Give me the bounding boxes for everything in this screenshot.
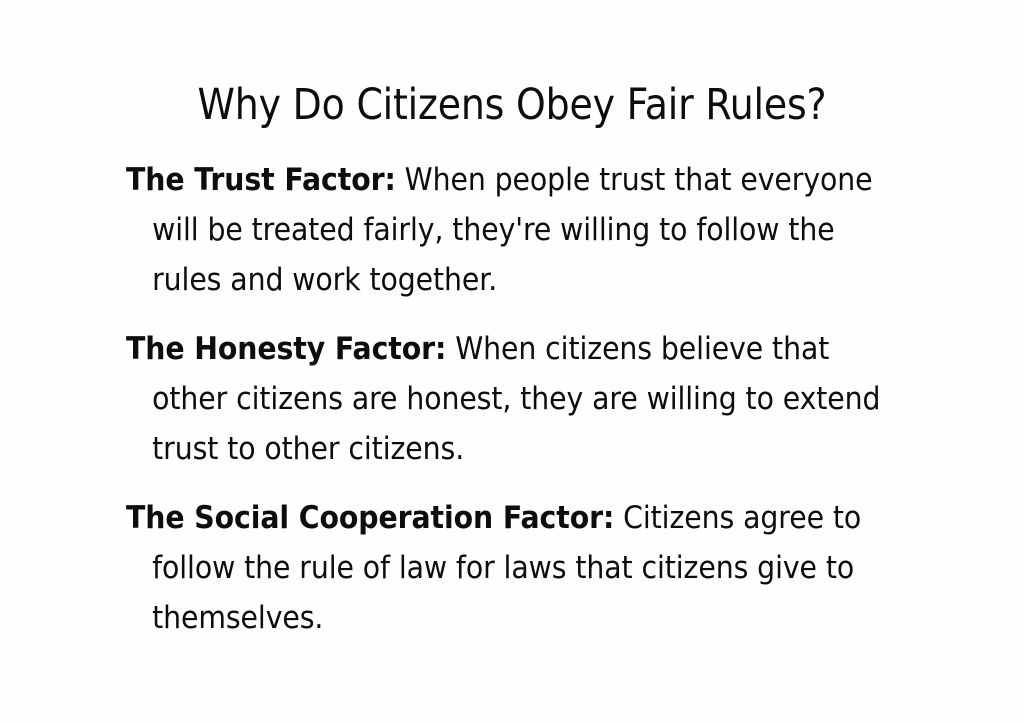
- factor-paragraph-social-cooperation: The Social Cooperation Factor: Citizens …: [126, 493, 911, 643]
- factor-paragraph-trust: The Trust Factor: When people trust that…: [126, 155, 911, 305]
- factor-lead-trust: The Trust Factor:: [126, 162, 396, 198]
- factor-lead-social-cooperation: The Social Cooperation Factor:: [126, 500, 614, 536]
- presentation-slide: Why Do Citizens Obey Fair Rules? The Tru…: [0, 0, 1024, 724]
- slide-title: Why Do Citizens Obey Fair Rules?: [61, 81, 962, 129]
- factor-paragraph-honesty: The Honesty Factor: When citizens believ…: [126, 324, 911, 474]
- slide-body: The Trust Factor: When people trust that…: [126, 155, 886, 643]
- factor-lead-honesty: The Honesty Factor:: [126, 331, 446, 367]
